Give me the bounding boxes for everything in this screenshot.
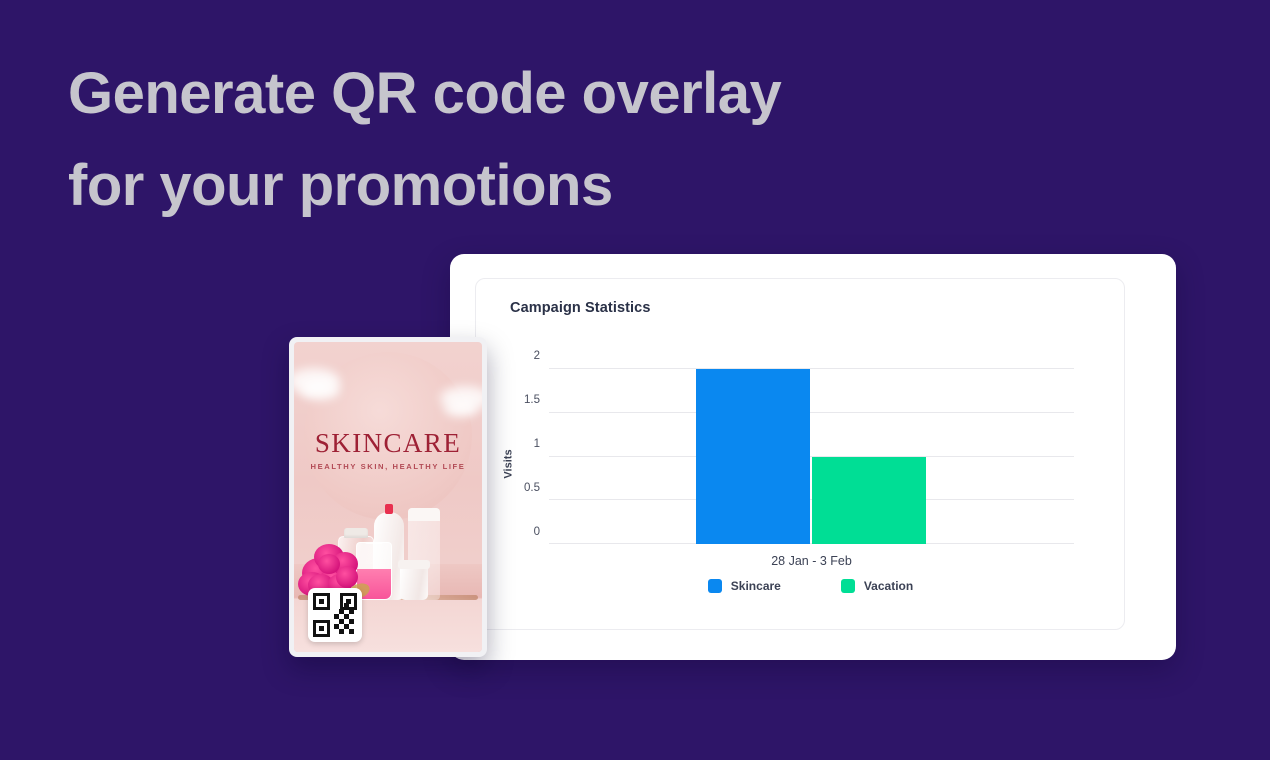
- chart-legend: SkincareVacation: [524, 579, 1097, 593]
- qr-module: [349, 609, 354, 614]
- cloud-shape: [444, 400, 478, 417]
- chart-bars: [549, 369, 1074, 544]
- promo-poster-card[interactable]: SKINCARE HEALTHY SKIN, HEALTHY LIFE: [289, 337, 487, 657]
- poster-image: SKINCARE HEALTHY SKIN, HEALTHY LIFE: [294, 342, 482, 652]
- legend-item-skincare[interactable]: Skincare: [708, 579, 781, 593]
- bottle-neck: [365, 542, 383, 544]
- qr-module: [339, 629, 344, 634]
- headline-line-2: for your promotions: [68, 140, 968, 232]
- bar-chart: Visits 00.511.52 28 Jan - 3 Feb: [501, 359, 1101, 569]
- legend-swatch-icon: [841, 579, 855, 593]
- legend-swatch-icon: [708, 579, 722, 593]
- dashboard-card: Campaign Statistics Visits 00.511.52 28 …: [450, 254, 1176, 660]
- y-axis-label: Visits: [503, 449, 515, 478]
- chart-plot-area: 00.511.52 28 Jan - 3 Feb: [549, 369, 1074, 544]
- qr-finder-bottom-left: [313, 620, 330, 637]
- panel-title: Campaign Statistics: [510, 300, 651, 316]
- qr-code-overlay[interactable]: [308, 588, 362, 642]
- bar-skincare[interactable]: [696, 369, 810, 544]
- y-axis-tick: 0: [534, 526, 540, 538]
- bar-vacation[interactable]: [812, 457, 926, 545]
- y-axis-tick: 1.5: [524, 394, 540, 406]
- headline-line-1: Generate QR code overlay: [68, 48, 968, 140]
- page-title: Generate QR code overlay for your promot…: [68, 48, 968, 232]
- cloud-shape: [300, 380, 340, 400]
- y-axis-tick: 1: [534, 438, 540, 450]
- qr-module: [349, 619, 354, 624]
- bottle-nozzle: [385, 504, 393, 514]
- y-axis-tick: 0.5: [524, 482, 540, 494]
- x-axis-label: 28 Jan - 3 Feb: [549, 554, 1074, 568]
- qr-finder-top-left: [313, 593, 330, 610]
- qr-code-icon: [313, 593, 357, 637]
- legend-label: Skincare: [731, 579, 781, 593]
- jar-cap: [408, 508, 440, 521]
- petal-shape: [336, 566, 358, 588]
- poster-products: [294, 468, 482, 600]
- campaign-statistics-panel: Campaign Statistics Visits 00.511.52 28 …: [475, 278, 1125, 630]
- small-white-jar: [400, 566, 428, 600]
- legend-label: Vacation: [864, 579, 913, 593]
- poster-title: SKINCARE: [294, 428, 482, 459]
- qr-module: [349, 629, 354, 634]
- y-axis-tick: 2: [534, 350, 540, 362]
- jar-ring: [398, 560, 430, 569]
- legend-item-vacation[interactable]: Vacation: [841, 579, 913, 593]
